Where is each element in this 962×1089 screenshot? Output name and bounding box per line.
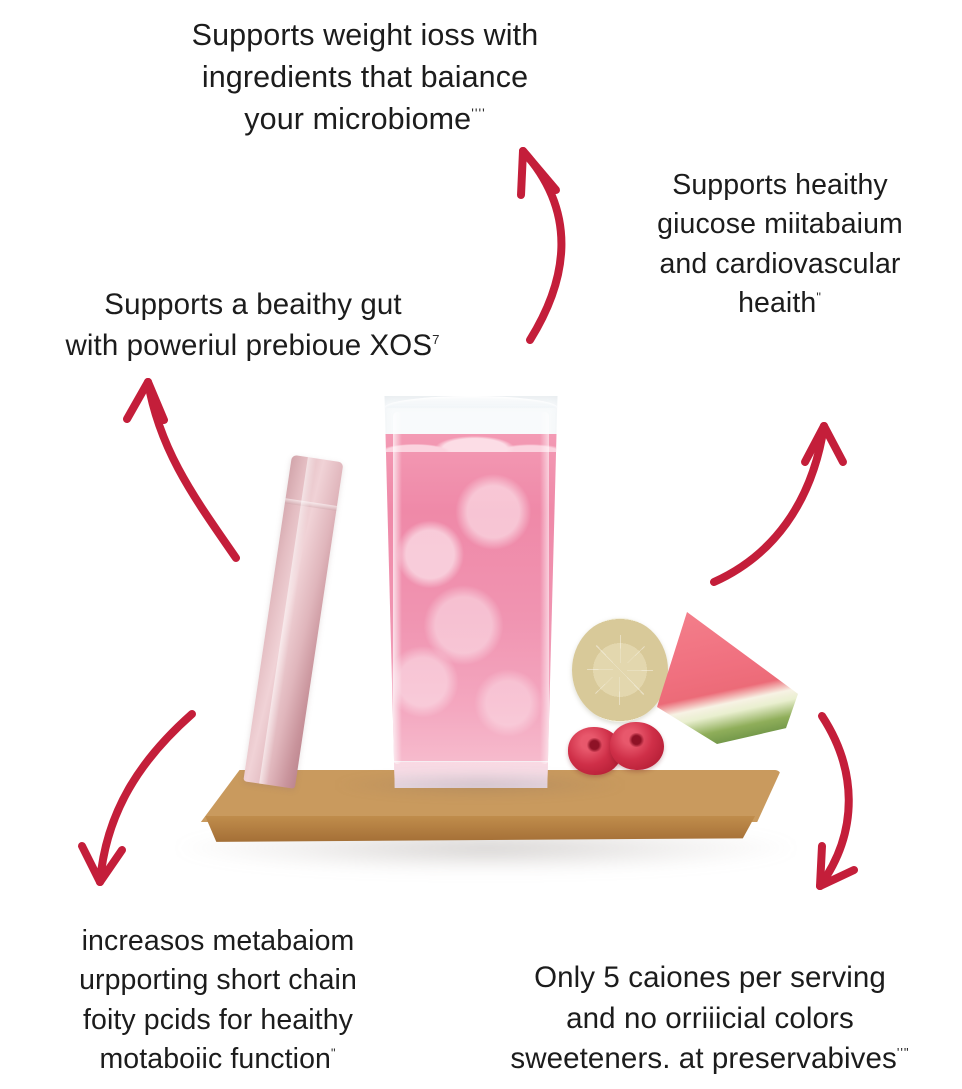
watermelon-wedge-fruit [648,612,798,744]
stick-pack-sachet [243,455,343,789]
glass-highlight-left [393,412,402,765]
footnote-marker: " [331,1045,337,1060]
footnote-marker: 7 [432,332,440,347]
berry-fruit [610,722,664,770]
infographic-canvas: Supports weight ioss with ingredients th… [0,0,962,1089]
benefit-text-weight-loss: Supports weight ioss with ingredients th… [130,14,600,140]
benefit-text-glucose-cardiovascular: Supports heaithy giucose miitabaium and … [604,166,956,323]
glass-contact-shadow [330,772,630,798]
benefit-text-glucose-cardiovascular-body: Supports heaithy giucose miitabaium and … [657,169,903,319]
benefit-text-metabolism-scfa: increasos metabaiom urpporting short cha… [18,922,418,1079]
pink-liquid [378,434,564,788]
arrow-to-top-center-icon [521,151,561,340]
benefit-text-calories-no-additives: Only 5 caiones per serving and no orriii… [460,958,960,1080]
benefit-text-metabolism-scfa-body: increasos metabaiom urpporting short cha… [79,925,357,1075]
product-photo [0,380,962,900]
citrus-half-fruit [572,618,668,722]
footnote-marker: '''' [471,106,485,121]
glass-rim [384,396,559,408]
ice-foam-top [378,418,564,452]
glass-highlight-right [540,412,549,765]
benefit-text-gut-prebiotic-body: Supports a beaithy gut with poweriul pre… [65,288,432,362]
footnote-marker: ''" [897,1046,910,1061]
footnote-marker: " [816,289,822,304]
benefit-text-weight-loss-body: Supports weight ioss with ingredients th… [192,18,539,136]
benefit-text-calories-no-additives-body: Only 5 caiones per serving and no orriii… [510,961,897,1075]
drink-glass [378,396,564,788]
benefit-text-gut-prebiotic: Supports a beaithy gut with poweriul pre… [8,285,498,366]
